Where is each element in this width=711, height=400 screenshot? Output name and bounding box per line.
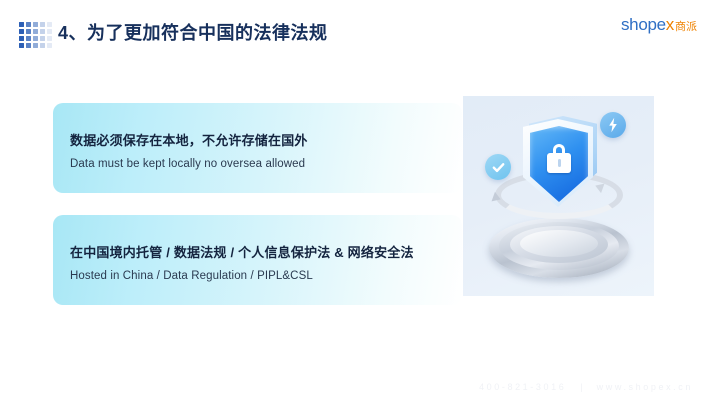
- illustration-stage: [463, 96, 654, 296]
- footer-website: www.shopex.cn: [597, 382, 693, 392]
- shopex-logo: shopex 商派: [621, 16, 697, 33]
- card-en-text: Data must be kept locally no oversea all…: [70, 158, 462, 170]
- dot-grid-icon: [19, 22, 52, 48]
- security-shield-illustration: [463, 96, 654, 296]
- padlock-icon: [547, 153, 571, 173]
- card-en-text: Hosted in China / Data Regulation / PIPL…: [70, 270, 462, 282]
- logo-word-accent: x: [666, 15, 674, 34]
- card-cn-text: 在中国境内托管 / 数据法规 / 个人信息保护法 & 网络安全法: [70, 242, 462, 261]
- slide: 4、为了更加符合中国的法律法规 shopex 商派 数据必须保存在本地，不允许存…: [0, 0, 711, 400]
- shield-icon: [517, 112, 601, 216]
- footer-contact: 400-821-3016 | www.shopex.cn: [479, 382, 693, 392]
- page-title: 4、为了更加符合中国的法律法规: [58, 19, 328, 45]
- logo-wordmark: shopex: [621, 16, 674, 33]
- footer-separator: |: [580, 382, 582, 392]
- check-circle-icon: [485, 154, 511, 180]
- footer-phone: 400-821-3016: [479, 382, 566, 392]
- metallic-disc-ring-4: [520, 230, 598, 257]
- info-card-data-locality: 数据必须保存在本地，不允许存储在国外 Data must be kept loc…: [53, 103, 462, 193]
- logo-cn-suffix: 商派: [675, 22, 697, 33]
- card-cn-text: 数据必须保存在本地，不允许存储在国外: [70, 130, 462, 149]
- logo-word-main: shope: [621, 15, 666, 34]
- lightning-bolt-circle-icon: [600, 112, 626, 138]
- info-card-compliance: 在中国境内托管 / 数据法规 / 个人信息保护法 & 网络安全法 Hosted …: [53, 215, 462, 305]
